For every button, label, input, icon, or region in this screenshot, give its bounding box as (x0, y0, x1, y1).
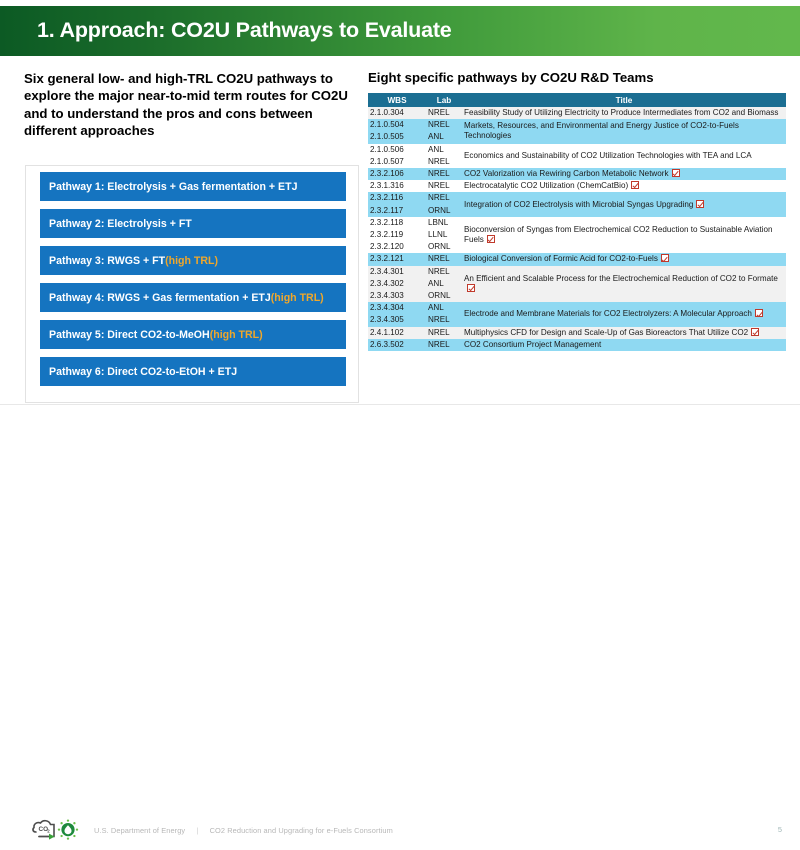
pathway-panel: Pathway 1: Electrolysis + Gas fermentati… (25, 165, 359, 403)
pathways-table: WBS Lab Title 2.1.0.304NRELFeasibility S… (368, 93, 786, 351)
cell-lab: ANL (426, 144, 462, 156)
table-row[interactable]: 2.3.2.116NRELIntegration of CO2 Electrol… (368, 192, 786, 204)
pathway-label: Pathway 1: Electrolysis + Gas fermentati… (49, 181, 297, 193)
cell-wbs: 2.3.4.305 (368, 314, 426, 326)
co2-consortium-logo-icon: CO 2 (30, 817, 82, 845)
title-text: Bioconversion of Syngas from Electrochem… (464, 225, 772, 244)
cell-wbs: 2.3.2.106 (368, 168, 426, 180)
cell-lab: ORNL (426, 290, 462, 302)
cell-wbs: 2.3.4.301 (368, 266, 426, 278)
table-row[interactable]: 2.3.2.118LBNLBioconversion of Syngas fro… (368, 217, 786, 229)
cell-wbs: 2.1.0.505 (368, 131, 426, 143)
title-text: Integration of CO2 Electrolysis with Mic… (464, 200, 693, 209)
cell-lab: NREL (426, 253, 462, 265)
table-head: WBS Lab Title (368, 93, 786, 107)
footer-separator: | (187, 826, 207, 835)
cell-wbs: 2.3.2.119 (368, 229, 426, 241)
cell-lab: NREL (426, 180, 462, 192)
pathway-trl-tag: (high TRL) (165, 255, 218, 267)
cell-wbs: 2.3.4.302 (368, 278, 426, 290)
pathway-box-4[interactable]: Pathway 4: RWGS + Gas fermentation + ETJ… (40, 283, 346, 312)
cell-lab: ORNL (426, 241, 462, 253)
cell-wbs: 2.6.3.502 (368, 339, 426, 351)
cell-wbs: 2.3.2.120 (368, 241, 426, 253)
cell-title: Electrocatalytic CO2 Utilization (ChemCa… (462, 180, 786, 192)
pathway-box-3[interactable]: Pathway 3: RWGS + FT (high TRL) (40, 246, 346, 275)
footer-consortium: CO2 Reduction and Upgrading for e-Fuels … (210, 826, 393, 835)
cell-title: An Efficient and Scalable Process for th… (462, 266, 786, 303)
cell-lab: ANL (426, 302, 462, 314)
column-header-wbs: WBS (368, 93, 426, 107)
cell-wbs: 2.1.0.506 (368, 144, 426, 156)
title-text: An Efficient and Scalable Process for th… (464, 274, 778, 283)
title-text: Electrocatalytic CO2 Utilization (ChemCa… (464, 181, 628, 190)
pathway-trl-tag: (high TRL) (210, 329, 263, 341)
pathway-trl-tag: (high TRL) (271, 292, 324, 304)
cell-lab: NREL (426, 266, 462, 278)
pathway-box-1[interactable]: Pathway 1: Electrolysis + Gas fermentati… (40, 172, 346, 201)
cell-lab: NREL (426, 192, 462, 204)
checkmark-icon (467, 284, 475, 292)
left-column: Six general low- and high-TRL CO2U pathw… (24, 70, 360, 140)
pathway-label: Pathway 3: RWGS + FT (49, 255, 165, 267)
title-text: CO2 Valorization via Rewiring Carbon Met… (464, 169, 669, 178)
title-text: Multiphysics CFD for Design and Scale-Up… (464, 328, 748, 337)
cell-wbs: 2.3.2.116 (368, 192, 426, 204)
cell-lab: LLNL (426, 229, 462, 241)
checkmark-icon (487, 235, 495, 243)
cell-lab: NREL (426, 107, 462, 119)
table-row[interactable]: 2.4.1.102NRELMultiphysics CFD for Design… (368, 327, 786, 339)
page-number: 5 (778, 825, 782, 834)
column-header-lab: Lab (426, 93, 462, 107)
cell-wbs: 2.1.0.504 (368, 119, 426, 131)
footer-org: U.S. Department of Energy (94, 826, 185, 835)
cell-lab: ANL (426, 131, 462, 143)
cell-title: Electrode and Membrane Materials for CO2… (462, 302, 786, 326)
cell-wbs: 2.3.1.316 (368, 180, 426, 192)
table-row[interactable]: 2.3.4.304ANLElectrode and Membrane Mater… (368, 302, 786, 314)
table-row[interactable]: 2.1.0.506ANLEconomics and Sustainability… (368, 144, 786, 156)
table-row[interactable]: 2.3.1.316NRELElectrocatalytic CO2 Utiliz… (368, 180, 786, 192)
title-text: CO2 Consortium Project Management (464, 340, 601, 349)
table-row[interactable]: 2.1.0.504NRELMarkets, Resources, and Env… (368, 119, 786, 131)
pathway-label: Pathway 2: Electrolysis + FT (49, 218, 192, 230)
pathway-list: Pathway 1: Electrolysis + Gas fermentati… (40, 172, 346, 394)
cell-title: Biological Conversion of Formic Acid for… (462, 253, 786, 265)
svg-text:2: 2 (47, 829, 50, 834)
right-column: Eight specific pathways by CO2U R&D Team… (368, 70, 786, 351)
page-title: 1. Approach: CO2U Pathways to Evaluate (37, 18, 452, 43)
footer: CO 2 U.S. Department of Energy | CO2 Red… (0, 405, 800, 450)
pathway-label: Pathway 5: Direct CO2-to-MeOH (49, 329, 210, 341)
checkmark-icon (755, 309, 763, 317)
pathway-box-2[interactable]: Pathway 2: Electrolysis + FT (40, 209, 346, 238)
cell-lab: ORNL (426, 205, 462, 217)
table-row[interactable]: 2.3.2.106NRELCO2 Valorization via Rewiri… (368, 168, 786, 180)
checkmark-icon (696, 200, 704, 208)
cell-lab: NREL (426, 327, 462, 339)
pathway-box-6[interactable]: Pathway 6: Direct CO2-to-EtOH + ETJ (40, 357, 346, 386)
cell-lab: NREL (426, 119, 462, 131)
column-header-title: Title (462, 93, 786, 107)
cell-wbs: 2.4.1.102 (368, 327, 426, 339)
cell-title: Multiphysics CFD for Design and Scale-Up… (462, 327, 786, 339)
cell-lab: NREL (426, 314, 462, 326)
cell-wbs: 2.3.4.303 (368, 290, 426, 302)
slide-header-bar: 1. Approach: CO2U Pathways to Evaluate (0, 6, 800, 56)
cell-title: CO2 Consortium Project Management (462, 339, 786, 351)
cell-lab: NREL (426, 156, 462, 168)
checkmark-icon (631, 181, 639, 189)
cell-title: Feasibility Study of Utilizing Electrici… (462, 107, 786, 119)
cell-wbs: 2.3.2.121 (368, 253, 426, 265)
cell-lab: NREL (426, 339, 462, 351)
cell-title: Bioconversion of Syngas from Electrochem… (462, 217, 786, 254)
table-body: 2.1.0.304NRELFeasibility Study of Utiliz… (368, 107, 786, 351)
cell-title: Markets, Resources, and Environmental an… (462, 119, 786, 143)
cell-title: Economics and Sustainability of CO2 Util… (462, 144, 786, 168)
title-text: Feasibility Study of Utilizing Electrici… (464, 108, 778, 117)
cell-lab: LBNL (426, 217, 462, 229)
title-text: Electrode and Membrane Materials for CO2… (464, 309, 752, 318)
table-header-row: WBS Lab Title (368, 93, 786, 107)
cell-wbs: 2.3.2.118 (368, 217, 426, 229)
checkmark-icon (751, 328, 759, 336)
title-text: Markets, Resources, and Environmental an… (464, 121, 739, 140)
cell-lab: NREL (426, 168, 462, 180)
right-lead-text: Eight specific pathways by CO2U R&D Team… (368, 70, 786, 86)
checkmark-icon (661, 254, 669, 262)
pathway-label: Pathway 4: RWGS + Gas fermentation + ETJ (49, 292, 271, 304)
checkmark-icon (672, 169, 680, 177)
cell-wbs: 2.1.0.304 (368, 107, 426, 119)
footer-text: U.S. Department of Energy | CO2 Reductio… (94, 826, 393, 835)
table-row[interactable]: 2.6.3.502NREL CO2 Consortium Project Man… (368, 339, 786, 351)
pathway-box-5[interactable]: Pathway 5: Direct CO2-to-MeOH (high TRL) (40, 320, 346, 349)
title-text: Biological Conversion of Formic Acid for… (464, 254, 658, 263)
table-row[interactable]: 2.1.0.304NRELFeasibility Study of Utiliz… (368, 107, 786, 119)
cell-title: CO2 Valorization via Rewiring Carbon Met… (462, 168, 786, 180)
cell-wbs: 2.3.4.304 (368, 302, 426, 314)
pathway-label: Pathway 6: Direct CO2-to-EtOH + ETJ (49, 366, 237, 378)
table-row[interactable]: 2.3.4.301NRELAn Efficient and Scalable P… (368, 266, 786, 278)
table-row[interactable]: 2.3.2.121NRELBiological Conversion of Fo… (368, 253, 786, 265)
cell-wbs: 2.1.0.507 (368, 156, 426, 168)
cell-lab: ANL (426, 278, 462, 290)
left-lead-text: Six general low- and high-TRL CO2U pathw… (24, 70, 354, 140)
cell-title: Integration of CO2 Electrolysis with Mic… (462, 192, 786, 216)
title-text: Economics and Sustainability of CO2 Util… (464, 151, 752, 160)
cell-wbs: 2.3.2.117 (368, 205, 426, 217)
